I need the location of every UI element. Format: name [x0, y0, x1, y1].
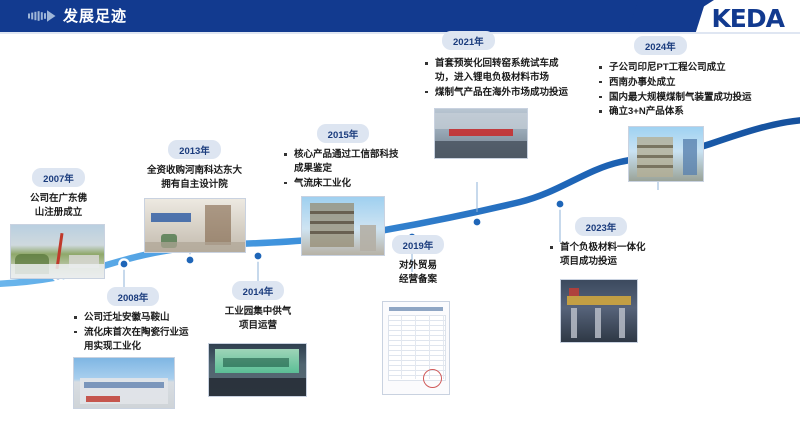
ceremony-hall-photo — [434, 108, 528, 159]
list-item: 国内最大规模煤制气装置成功投运 — [598, 91, 768, 105]
milestone-bullets: 公司迁址安徽马鞍山 流化床首次在陶瓷行业运用实现工业化 — [73, 311, 193, 353]
header-accent-shape — [628, 0, 706, 32]
anode-material-plant-photo — [560, 279, 638, 343]
office-lobby-photo — [144, 198, 246, 253]
list-item: 子公司印尼PT工程公司成立 — [598, 61, 768, 75]
year-badge: 2013年 — [168, 140, 221, 159]
milestone-description: 对外贸易 经营备案 — [382, 259, 454, 287]
trade-certificate-photo — [382, 301, 450, 395]
milestone-2013[interactable]: 2013年 全资收购河南科达东大 拥有自主设计院 — [128, 140, 261, 253]
list-item: 确立3+N产品体系 — [598, 105, 768, 119]
list-item: 核心产品通过工信部科技成果鉴定 — [283, 148, 403, 176]
milestone-2019[interactable]: 2019年 对外贸易 经营备案 — [382, 235, 454, 395]
milestone-2007[interactable]: 2007年 公司在广东佛 山注册成立 — [10, 168, 107, 279]
page-title: 发展足迹 — [63, 5, 127, 26]
construction-site-photo — [10, 224, 105, 279]
milestone-bullets: 核心产品通过工信部科技成果鉴定 气流床工业化 — [283, 148, 403, 190]
milestone-bullets: 子公司印尼PT工程公司成立 西南办事处成立 国内最大规模煤制气装置成功投运 确立… — [598, 61, 768, 119]
list-item: 煤制气产品在海外市场成功投运 — [424, 86, 574, 100]
milestone-2014[interactable]: 2014年 工业园集中供气 项目运营 — [205, 281, 311, 397]
industrial-plant-photo — [301, 196, 385, 256]
milestone-2008[interactable]: 2008年 公司迁址安徽马鞍山 流化床首次在陶瓷行业运用实现工业化 — [73, 287, 193, 409]
list-item: 首个负极材料一体化项目成功投运 — [549, 241, 653, 269]
year-badge: 2007年 — [32, 168, 85, 187]
milestone-bullets: 首套预炭化回转窑系统试车成功，进入锂电负极材料市场 煤制气产品在海外市场成功投运 — [424, 57, 574, 99]
year-badge: 2021年 — [442, 31, 495, 50]
year-badge: 2023年 — [575, 217, 628, 236]
year-badge: 2014年 — [232, 281, 285, 300]
press-conference-photo — [208, 343, 307, 397]
milestone-description: 全资收购河南科达东大 拥有自主设计院 — [128, 164, 261, 192]
list-item: 气流床工业化 — [283, 177, 403, 191]
year-badge: 2015年 — [317, 124, 370, 143]
milestone-2021[interactable]: 2021年 首套预炭化回转窑系统试车成功，进入锂电负极材料市场 煤制气产品在海外… — [424, 31, 574, 159]
milestone-description: 公司在广东佛 山注册成立 — [10, 192, 107, 220]
list-item: 流化床首次在陶瓷行业运用实现工业化 — [73, 326, 193, 354]
year-badge: 2019年 — [392, 235, 445, 254]
list-item: 西南办事处成立 — [598, 76, 768, 90]
year-badge: 2024年 — [634, 36, 687, 55]
keda-logo: KEDA — [711, 4, 784, 33]
milestone-2023[interactable]: 2023年 首个负极材料一体化项目成功投运 — [549, 217, 653, 343]
milestone-description: 工业园集中供气 项目运营 — [205, 305, 311, 333]
factory-building-photo — [73, 357, 175, 409]
milestone-2024[interactable]: 2024年 子公司印尼PT工程公司成立 西南办事处成立 国内最大规模煤制气装置成… — [598, 36, 768, 182]
milestone-bullets: 首个负极材料一体化项目成功投运 — [549, 241, 653, 269]
striped-arrow-right-icon — [28, 9, 56, 23]
year-badge: 2008年 — [107, 287, 160, 306]
gas-plant-photo — [628, 126, 704, 182]
list-item: 首套预炭化回转窑系统试车成功，进入锂电负极材料市场 — [424, 57, 574, 85]
list-item: 公司迁址安徽马鞍山 — [73, 311, 193, 325]
page-header: 发展足迹 KEDA — [0, 0, 800, 32]
